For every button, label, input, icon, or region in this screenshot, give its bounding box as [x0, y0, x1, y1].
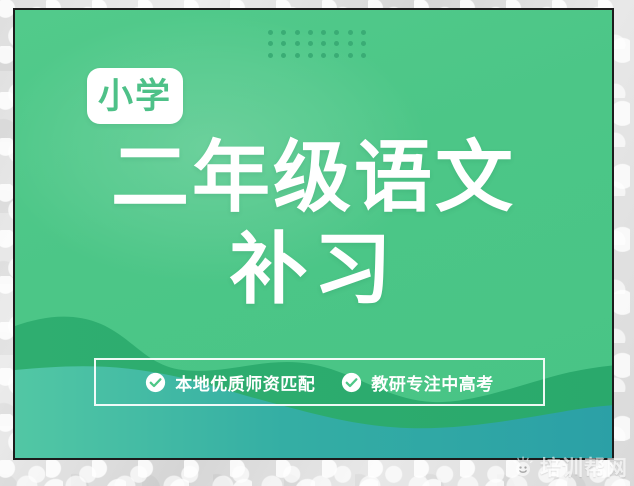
- level-badge-label: 小学: [98, 79, 172, 114]
- site-watermark: 培训帮网: [512, 452, 628, 482]
- grid-dot: [268, 53, 273, 58]
- feature-highlight-bar: 本地优质师资匹配 教研专注中高考: [94, 358, 545, 406]
- watermark-label: 培训帮网: [540, 452, 628, 482]
- dot-grid-decoration: [264, 27, 370, 61]
- grid-dot: [348, 41, 353, 46]
- feature-item-2: 教研专注中高考: [341, 370, 494, 395]
- grid-dot: [348, 53, 353, 58]
- check-circle-icon: [145, 372, 166, 393]
- grid-dot: [321, 53, 326, 58]
- grid-dot: [361, 53, 366, 58]
- grid-dot: [281, 53, 286, 58]
- grid-dot: [348, 30, 353, 35]
- grid-dot: [281, 30, 286, 35]
- grid-dot: [334, 53, 339, 58]
- level-badge: 小学: [87, 68, 183, 124]
- grid-dot: [268, 30, 273, 35]
- grid-dot: [268, 41, 273, 46]
- grid-dot: [321, 30, 326, 35]
- grid-dot: [281, 41, 286, 46]
- sun-face-icon: [512, 456, 534, 478]
- grid-dot: [295, 30, 300, 35]
- check-circle-icon: [341, 372, 362, 393]
- feature-label-2: 教研专注中高考: [371, 370, 494, 395]
- grid-dot: [295, 53, 300, 58]
- grid-dot: [308, 41, 313, 46]
- page-backdrop: 小学 二年级语文 补习 本地优质师资匹配 教研专注中高考: [0, 0, 634, 486]
- grid-dot: [308, 53, 313, 58]
- grid-dot: [361, 30, 366, 35]
- grid-dot: [308, 30, 313, 35]
- feature-item-1: 本地优质师资匹配: [145, 370, 315, 395]
- feature-label-1: 本地优质师资匹配: [175, 370, 315, 395]
- grid-dot: [361, 41, 366, 46]
- grid-dot: [334, 30, 339, 35]
- grid-dot: [295, 41, 300, 46]
- grid-dot: [334, 41, 339, 46]
- grid-dot: [321, 41, 326, 46]
- course-poster-card: 小学 二年级语文 补习 本地优质师资匹配 教研专注中高考: [13, 8, 614, 460]
